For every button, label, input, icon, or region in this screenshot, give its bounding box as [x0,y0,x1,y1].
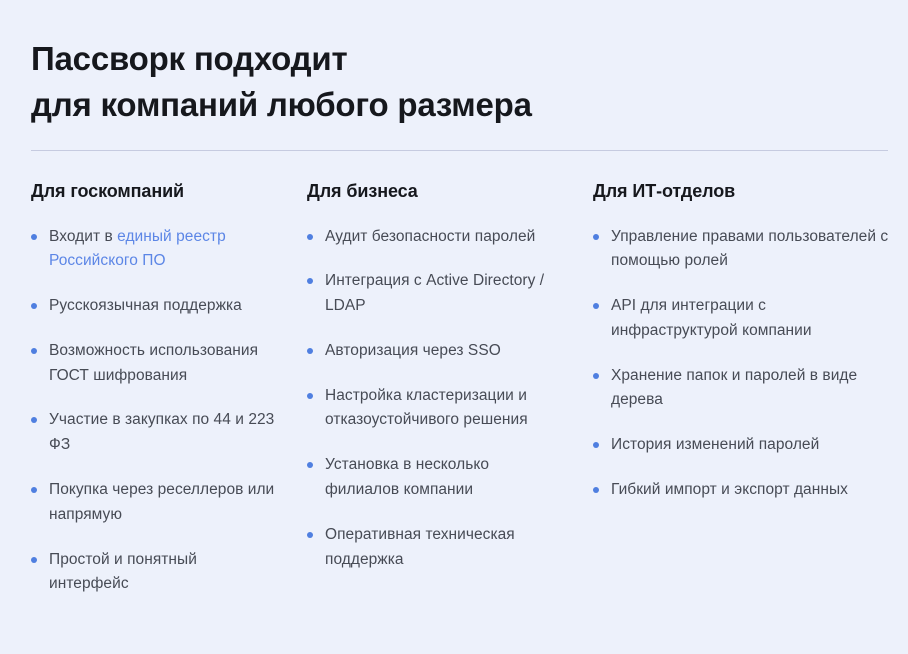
column-it: Для ИТ-отделов Управление правами пользо… [578,180,908,597]
column-title-gov: Для госкомпаний [31,180,275,203]
feature-list-it: Управление правами пользователей с помощ… [593,225,890,503]
column-title-it: Для ИТ-отделов [593,180,890,203]
list-item: Простой и понятный интерфейс [31,548,275,598]
column-gov: Для госкомпаний Входит в единый реестр Р… [0,180,293,597]
list-item: Авторизация через SSO [307,339,564,364]
list-item: Участие в закупках по 44 и 223 ФЗ [31,408,275,458]
list-item: Входит в единый реестр Российского ПО [31,225,275,275]
page-root: Пассворк подходит для компаний любого ра… [0,0,908,654]
section-divider [31,150,888,151]
list-item: Гибкий импорт и экспорт данных [593,478,890,503]
list-item: Интеграция с Active Directory / LDAP [307,269,564,319]
list-item: Оперативная техническая поддержка [307,523,564,573]
list-item: Настройка кластеризации и отказоустойчив… [307,384,564,434]
list-item: Хранение папок и паролей в виде дерева [593,364,890,414]
column-title-business: Для бизнеса [307,180,564,203]
list-item: Русскоязычная поддержка [31,294,275,319]
feature-list-business: Аудит безопасности паролей Интеграция с … [307,225,564,573]
list-item: Установка в несколько филиалов компании [307,453,564,503]
list-item: Покупка через реселлеров или напрямую [31,478,275,528]
list-item: Аудит безопасности паролей [307,225,564,250]
list-item: Управление правами пользователей с помощ… [593,225,890,275]
page-title: Пассворк подходит для компаний любого ра… [31,36,871,127]
list-item: История изменений паролей [593,433,890,458]
feature-list-gov: Входит в единый реестр Российского ПО Ру… [31,225,275,598]
feature-columns: Для госкомпаний Входит в единый реестр Р… [0,180,908,597]
list-item: Возможность использования ГОСТ шифровани… [31,339,275,389]
column-business: Для бизнеса Аудит безопасности паролей И… [293,180,578,597]
list-item: API для интеграции с инфраструктурой ком… [593,294,890,344]
item-text-prefix: Входит в [49,228,117,245]
